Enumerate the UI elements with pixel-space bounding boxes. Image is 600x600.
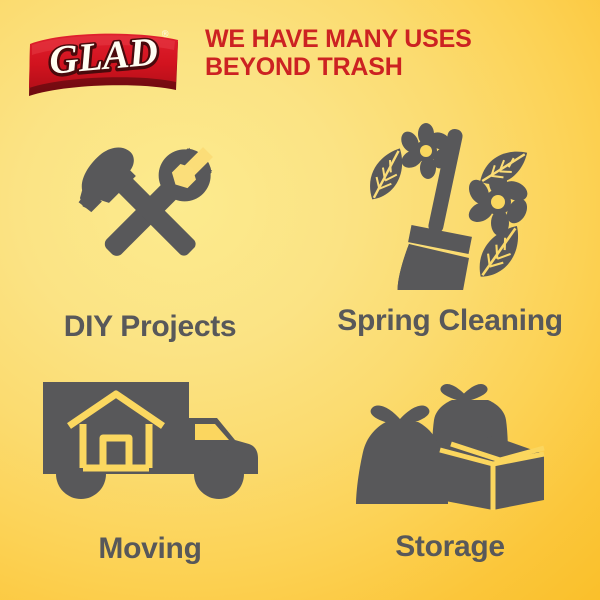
- use-card-spring-cleaning: Spring Cleaning: [300, 112, 600, 356]
- use-card-moving: Moving: [0, 356, 300, 600]
- headline-line-1: WE HAVE MANY USES: [205, 25, 472, 53]
- trash-bags-box-icon: [348, 376, 552, 512]
- use-card-diy-projects: DIY Projects: [0, 112, 300, 356]
- moving-truck-house-icon: [39, 378, 261, 512]
- use-label-storage: Storage: [395, 532, 505, 562]
- poster-header: GLAD GLAD ® WE HAVE MANY USES BEYOND TRA…: [0, 0, 600, 112]
- headline: WE HAVE MANY USES BEYOND TRASH: [205, 26, 585, 82]
- glad-logo: GLAD GLAD ®: [24, 26, 184, 100]
- promo-poster: GLAD GLAD ® WE HAVE MANY USES BEYOND TRA…: [0, 0, 600, 600]
- uses-grid: DIY Projects: [0, 112, 600, 600]
- headline-line-2: BEYOND TRASH: [205, 54, 585, 82]
- use-label-moving: Moving: [98, 534, 201, 564]
- glad-ribbon-logo: [24, 26, 184, 100]
- hammer-wrench-icon: [64, 130, 236, 290]
- leaf-icon: [472, 226, 526, 277]
- broom-flowers-leaves-icon: [352, 118, 548, 290]
- cardboard-box-icon: [440, 436, 544, 510]
- use-label-diy-projects: DIY Projects: [64, 312, 237, 342]
- use-label-spring-cleaning: Spring Cleaning: [337, 306, 563, 336]
- use-card-storage: Storage: [300, 356, 600, 600]
